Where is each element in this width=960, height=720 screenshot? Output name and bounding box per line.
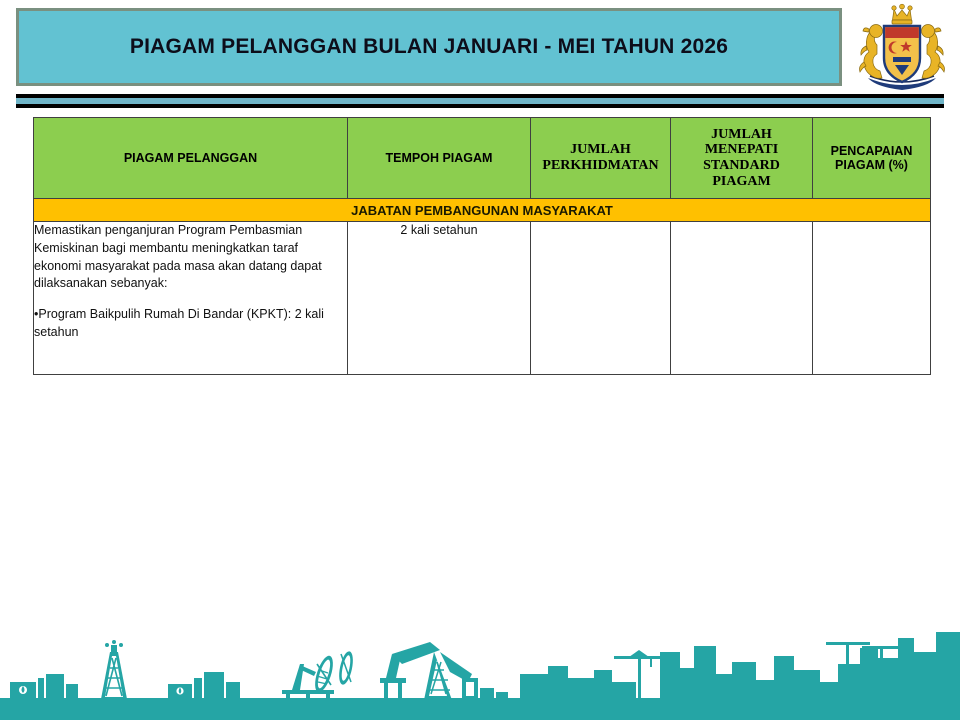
- divider-bar: [16, 94, 944, 108]
- government-crest-logo: [848, 0, 956, 100]
- paragraph-spacer: [34, 293, 347, 306]
- cell-jumlah-perkhidmatan: [531, 222, 671, 375]
- column-header-pencapaian-piagam: PENCAPAIAN PIAGAM (%): [813, 118, 931, 199]
- cell-tempoh-piagam: 2 kali setahun: [348, 222, 531, 375]
- column-header-jumlah-menepati-standard-piagam: JUMLAH MENEPATI STANDARD PIAGAM: [671, 118, 813, 199]
- table-header-row: PIAGAM PELANGGAN TEMPOH PIAGAM JUMLAH PE…: [34, 118, 931, 199]
- piagam-bullet-item: •Program Baikpulih Rumah Di Bandar (KPKT…: [34, 306, 347, 342]
- piagam-description-paragraph: Memastikan penganjuran Program Pembasmia…: [34, 222, 347, 293]
- section-header-row: JABATAN PEMBANGUNAN MASYARAKAT: [34, 199, 931, 222]
- charter-table: PIAGAM PELANGGAN TEMPOH PIAGAM JUMLAH PE…: [33, 117, 931, 375]
- industrial-city-skyline: [0, 612, 960, 720]
- cell-pencapaian-piagam: [813, 222, 931, 375]
- section-title-jabatan-pembangunan-masyarakat: JABATAN PEMBANGUNAN MASYARAKAT: [34, 199, 931, 222]
- page-title: PIAGAM PELANGGAN BULAN JANUARI - MEI TAH…: [130, 35, 728, 59]
- column-header-piagam-pelanggan: PIAGAM PELANGGAN: [34, 118, 348, 199]
- cell-piagam-pelanggan: Memastikan penganjuran Program Pembasmia…: [34, 222, 348, 375]
- column-header-tempoh-piagam: TEMPOH PIAGAM: [348, 118, 531, 199]
- cell-jumlah-menepati-standard: [671, 222, 813, 375]
- column-header-jumlah-perkhidmatan: JUMLAH PERKHIDMATAN: [531, 118, 671, 199]
- title-banner: PIAGAM PELANGGAN BULAN JANUARI - MEI TAH…: [16, 8, 842, 86]
- table-row: Memastikan penganjuran Program Pembasmia…: [34, 222, 931, 375]
